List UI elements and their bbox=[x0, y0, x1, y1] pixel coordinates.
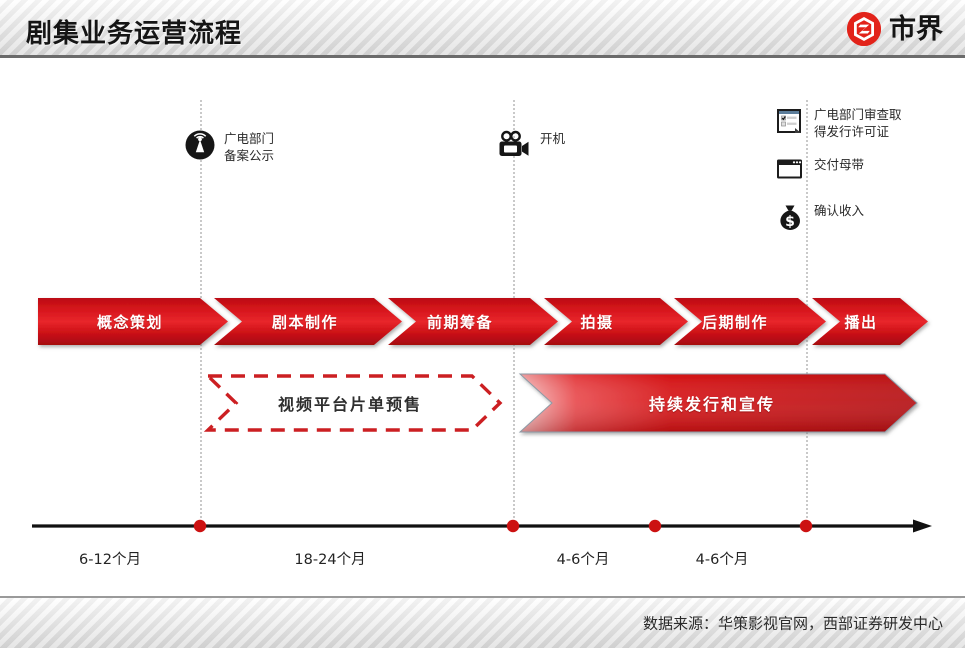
shijie-s-logo-icon bbox=[847, 12, 881, 46]
brand-logo: 市界 bbox=[847, 10, 943, 48]
brand-logo-text: 市界 bbox=[889, 16, 943, 43]
slide-footer: 数据来源：华策影视官网，西部证券研发中心 bbox=[0, 596, 965, 648]
timeline-labels: 6-12个月 18-24个月 4-6个月 4-6个月 bbox=[0, 58, 965, 596]
slide-root: 剧集业务运营流程 市界 bbox=[0, 0, 965, 648]
slide-header: 剧集业务运营流程 市界 bbox=[0, 0, 965, 58]
page-title: 剧集业务运营流程 bbox=[26, 13, 242, 50]
timeline-segment-label: 4-6个月 bbox=[696, 548, 749, 569]
timeline-segment-label: 4-6个月 bbox=[557, 548, 610, 569]
timeline-segment-label: 6-12个月 bbox=[79, 548, 141, 569]
timeline-segment-label: 18-24个月 bbox=[294, 548, 365, 569]
diagram-canvas: 广电部门 备案公示 开机 bbox=[0, 58, 965, 596]
data-source-note: 数据来源：华策影视官网，西部证券研发中心 bbox=[643, 613, 943, 634]
